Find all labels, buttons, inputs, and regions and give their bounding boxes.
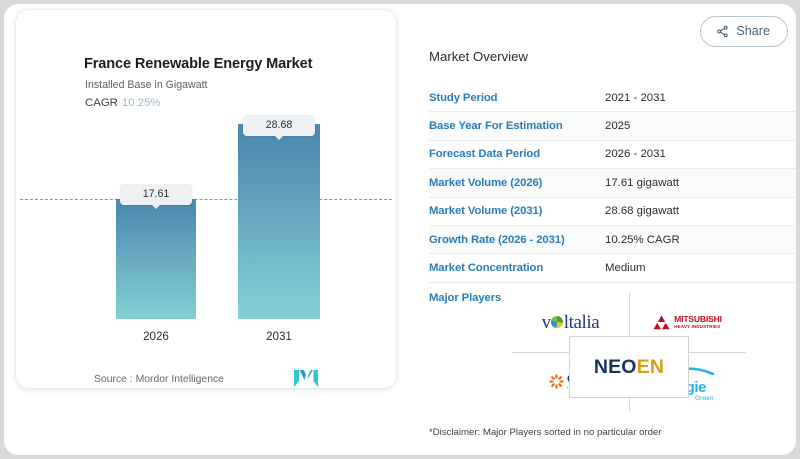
table-row: Market Volume (2026) 17.61 gigawatt [429,169,796,197]
row-label: Growth Rate (2026 - 2031) [429,234,605,246]
bar-2031[interactable] [238,124,320,319]
row-value: 28.68 gigawatt [605,205,679,217]
neoen-logo: NEOEN [594,356,664,379]
edf-sunburst-icon [549,374,564,389]
row-value: Medium [605,262,646,274]
cagr-label: CAGR [85,97,118,109]
table-row: Forecast Data Period 2026 - 2031 [429,141,796,169]
page-root: France Renewable Energy Market Installed… [4,4,796,455]
voltalia-logo-text2: ltalia [564,312,600,334]
bar-value-label-2031: 28.68 [243,115,315,136]
player-cell-neoen[interactable]: NEOEN [569,336,689,398]
bar-2026[interactable] [116,199,196,319]
mitsubishi-subtitle: HEAVY INDUSTRIES [674,325,722,330]
row-value: 10.25% CAGR [605,234,680,246]
market-overview-table: Study Period 2021 - 2031 Base Year For E… [429,84,796,313]
row-label: Market Concentration [429,262,605,274]
table-row: Market Concentration Medium [429,254,796,282]
mitsubishi-logo: MITSUBISHI HEAVY INDUSTRIES [653,315,722,330]
cagr-value: 10.25% [122,97,161,109]
neoen-name-part1: NEO [594,356,637,378]
row-value: 2021 - 2031 [605,92,666,104]
table-row: Growth Rate (2026 - 2031) 10.25% CAGR [429,226,796,254]
source-text: Source : Mordor Intelligence [94,374,224,385]
cagr-row: CAGR10.25% [85,97,161,109]
row-value: 2025 [605,120,630,132]
row-label: Forecast Data Period [429,148,605,160]
row-value: 17.61 gigawatt [605,177,679,189]
mitsubishi-three-diamonds-icon [653,315,670,330]
major-players-logo-grid: vltalia MITSUBISHI HEAVY INDUSTRIES [512,293,746,411]
market-overview-panel: Market Overview Study Period 2021 - 2031… [420,4,796,455]
row-value: 2026 - 2031 [605,148,666,160]
chart-title: France Renewable Energy Market [84,56,312,72]
table-row: Study Period 2021 - 2031 [429,84,796,112]
row-label: Study Period [429,92,605,104]
reference-line [20,199,392,200]
voltalia-logo-text: v [542,312,551,334]
neoen-name-part2: EN [637,356,665,378]
table-row: Market Volume (2031) 28.68 gigawatt [429,198,796,226]
row-label: Market Volume (2031) [429,205,605,217]
row-label: Base Year For Estimation [429,120,605,132]
mordor-intelligence-logo [294,370,318,387]
chart-subtitle: Installed Base in Gigawatt [85,79,208,91]
x-axis-tick-2026: 2026 [116,330,196,343]
table-row: Base Year For Estimation 2025 [429,112,796,140]
bar-chart-plot: 17.61 28.68 2026 2031 [16,122,396,347]
bar-value-label-2026: 17.61 [120,184,192,205]
disclaimer-text: *Disclaimer: Major Players sorted in no … [429,427,661,438]
row-label: Market Volume (2026) [429,177,605,189]
panel-title: Market Overview [429,49,528,64]
voltalia-logo: vltalia [542,312,600,334]
mitsubishi-wordmark: MITSUBISHI HEAVY INDUSTRIES [674,315,722,329]
chart-card: France Renewable Energy Market Installed… [16,10,396,388]
x-axis-tick-2031: 2031 [238,330,320,343]
voltalia-globe-icon [551,316,563,328]
